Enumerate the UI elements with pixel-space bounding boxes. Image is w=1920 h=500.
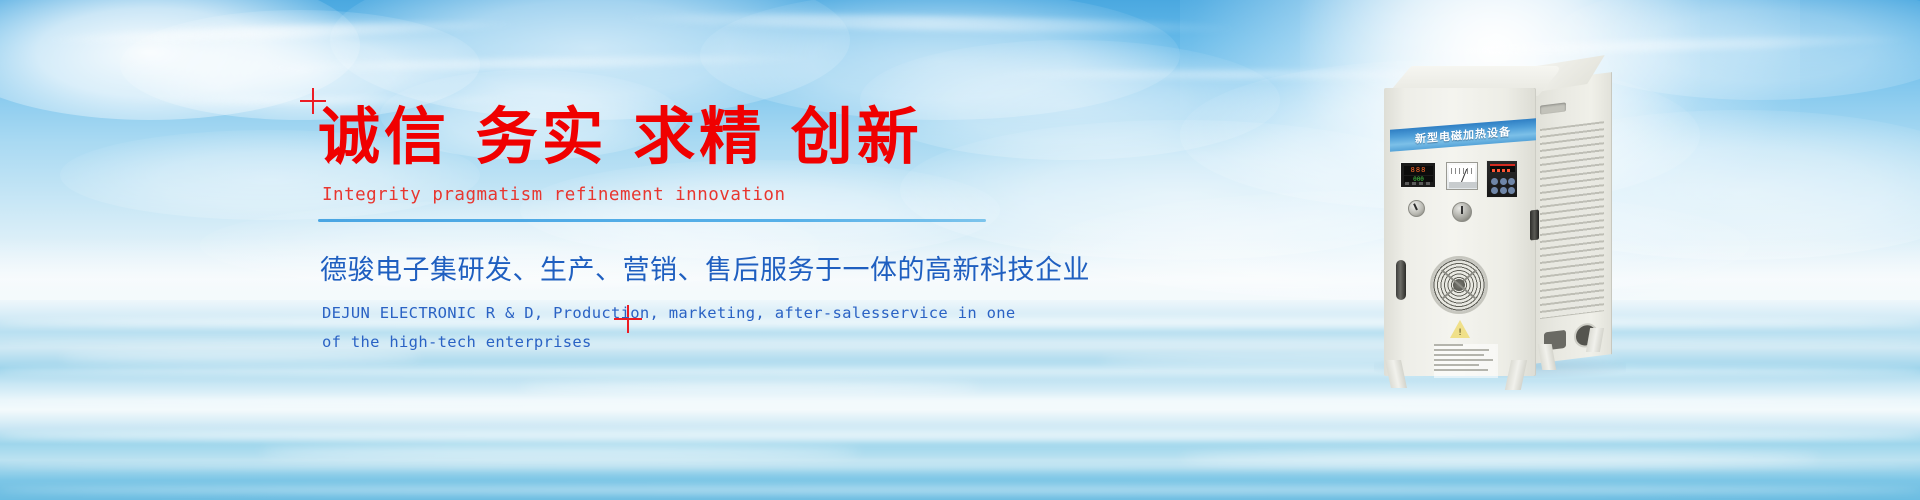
fan-hub — [1453, 279, 1465, 291]
wave-line — [0, 486, 1920, 494]
warning-triangle-mark: ! — [1450, 320, 1470, 338]
machine-selector-knob — [1408, 200, 1425, 217]
water-shimmer — [520, 382, 980, 394]
spec-text-line — [1434, 359, 1493, 361]
ammeter-scale — [1451, 168, 1473, 174]
cloud — [0, 0, 360, 120]
hero-banner: 诚信 务实 求精 创新 Integrity pragmatism refinem… — [0, 0, 1920, 500]
subheading-chinese: 德骏电子集研发、生产、营销、售后服务于一体的高新科技企业 — [320, 248, 1038, 287]
wave-line — [0, 398, 1920, 406]
spec-text-line — [1434, 344, 1463, 346]
keypad-key — [1500, 178, 1507, 185]
wave-line — [0, 462, 1920, 469]
spec-text-line — [1434, 369, 1488, 371]
keypad-key — [1500, 187, 1507, 194]
water-shimmer — [260, 446, 860, 459]
machine-ventilation-louvers — [1540, 121, 1604, 319]
spec-text-line — [1434, 364, 1479, 366]
keypad-key — [1508, 187, 1515, 194]
tagline-english: Integrity pragmatism refinement innovati… — [322, 185, 1038, 205]
keypad-buttons — [1491, 178, 1515, 194]
controller-buttons — [1405, 182, 1433, 185]
keypad-key — [1508, 178, 1515, 185]
page-title: 诚信 务实 求精 创新 — [318, 104, 1038, 171]
subheading-english-line-1: DEJUN ELECTRONIC R & D, Production, mark… — [322, 299, 1038, 328]
machine-door-handle — [1396, 260, 1406, 300]
ammeter-label-strip — [1449, 182, 1477, 188]
machine-temperature-controller: 888 000 — [1400, 162, 1436, 188]
spec-text-line — [1434, 349, 1489, 351]
keypad-key — [1491, 178, 1498, 185]
cirrus-streak — [260, 53, 820, 73]
subheading-english-line-2: of the high-tech enterprises — [322, 328, 1038, 357]
machine-spec-label — [1434, 344, 1498, 378]
machine-analog-ammeter — [1446, 162, 1478, 190]
cirrus-streak — [1400, 33, 1920, 58]
keypad-key — [1491, 187, 1498, 194]
water-shimmer — [1180, 452, 1820, 464]
wave-line — [0, 430, 1920, 441]
wave-line — [0, 366, 1920, 376]
cirrus-streak — [620, 11, 1240, 36]
ammeter-face — [1449, 165, 1475, 182]
spec-text-line — [1434, 354, 1484, 356]
banner-copy: 诚信 务实 求精 创新 Integrity pragmatism refinem… — [318, 104, 1038, 356]
keypad-display — [1490, 164, 1515, 172]
machine-keypad-panel — [1486, 160, 1518, 198]
warning-symbol: ! — [1458, 329, 1462, 338]
cirrus-streak — [40, 18, 520, 47]
machine-cooling-fan-grille — [1430, 256, 1488, 314]
machine-side-panel — [1532, 72, 1612, 364]
divider — [318, 219, 986, 222]
machine-adjust-knob — [1452, 202, 1472, 222]
product-image-heating-machine: 新型电磁加热设备 888 000 — [1382, 60, 1614, 380]
machine-side-latch — [1530, 209, 1539, 240]
machine-nameplate: 新型电磁加热设备 — [1390, 118, 1536, 151]
machine-nameplate-label: 新型电磁加热设备 — [1415, 123, 1511, 147]
machine-front-panel: 新型电磁加热设备 888 000 — [1384, 88, 1536, 376]
controller-primary-display: 888 — [1404, 166, 1433, 175]
